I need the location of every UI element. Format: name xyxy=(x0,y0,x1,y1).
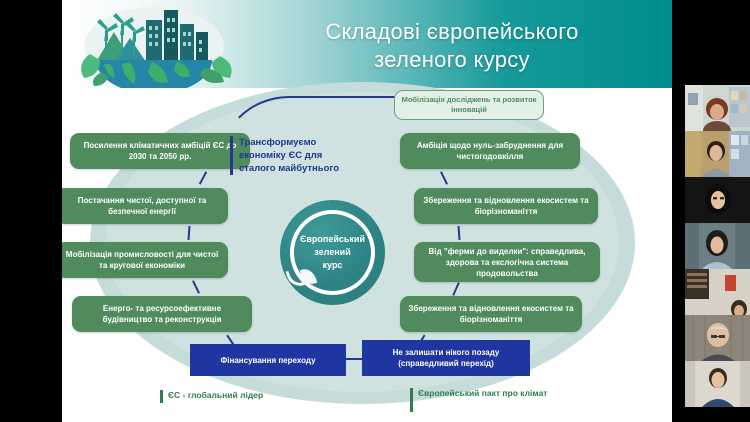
legend-item-climate-pact: Європейський пакт про клімат xyxy=(410,388,590,412)
hub-line-2: зелений xyxy=(314,246,350,259)
box-left-4: Енерго- та ресурсоефективне будівництво … xyxy=(72,296,252,332)
legend-label-1: ЄС - глобальний лідер xyxy=(168,390,263,401)
screen: Складові європейського зеленого курсу Мо… xyxy=(0,0,750,422)
box-bottom-just-transition: Не залишати нікого позаду (справедливий … xyxy=(362,340,530,376)
box-left-1: Посилення кліматичних амбіцій ЄС до 2030… xyxy=(70,133,250,169)
slide-header-band: Складові європейського зеленого курсу xyxy=(62,0,672,88)
legend-item-eu-leader: ЄС - глобальний лідер xyxy=(160,390,380,403)
box-research-innovation: Мобілізація досліджень та розвиток іннов… xyxy=(394,90,544,120)
video-thumbnail-participant-3[interactable] xyxy=(685,177,750,223)
legend-bar-1 xyxy=(160,390,163,403)
video-thumbnail-participant-5[interactable] xyxy=(685,269,750,315)
video-participant-rail xyxy=(685,85,750,407)
video-thumbnail-participant-1[interactable] xyxy=(685,85,750,131)
box-right-1: Амбіція щодо нуль-забруднення для чистог… xyxy=(400,133,580,169)
hub-line-3: курс xyxy=(323,259,343,272)
connector-bottom xyxy=(345,358,363,360)
diagram-area: Мобілізація досліджень та розвиток іннов… xyxy=(62,88,672,422)
hub-line-1: Європейський xyxy=(300,233,365,246)
hub-label: Європейський зелений курс xyxy=(280,200,385,305)
video-thumbnail-participant-7[interactable] xyxy=(685,361,750,407)
video-thumbnail-participant-6[interactable] xyxy=(685,315,750,361)
eco-globe-logo xyxy=(72,2,237,88)
box-bottom-financing: Фінансування переходу xyxy=(190,344,346,376)
box-right-3: Від "ферми до виделки": справедлива, здо… xyxy=(414,242,600,282)
box-left-2: Постачання чистої, доступної та безпечно… xyxy=(62,188,228,224)
legend-label-2: Європейський пакт про клімат xyxy=(418,388,547,399)
presentation-slide: Складові європейського зеленого курсу Мо… xyxy=(62,0,672,422)
video-thumbnail-participant-4[interactable] xyxy=(685,223,750,269)
box-right-2: Збереження та відновлення екосистем та б… xyxy=(414,188,598,224)
video-thumbnail-participant-2[interactable] xyxy=(685,131,750,177)
center-hub: Європейський зелений курс xyxy=(280,200,385,305)
box-left-3: Мобілізація промисловості для чистої та … xyxy=(62,242,228,278)
center-transform-label: Трансформуємо економіку ЄС для сталого м… xyxy=(230,136,359,175)
page-title: Складові європейського зеленого курсу xyxy=(242,6,662,86)
box-right-4: Збереження та відновлення екосистем та б… xyxy=(400,296,582,332)
title-line-1: Складові європейського xyxy=(325,18,578,46)
legend-bar-2 xyxy=(410,388,413,412)
title-line-2: зеленого курсу xyxy=(374,46,530,74)
